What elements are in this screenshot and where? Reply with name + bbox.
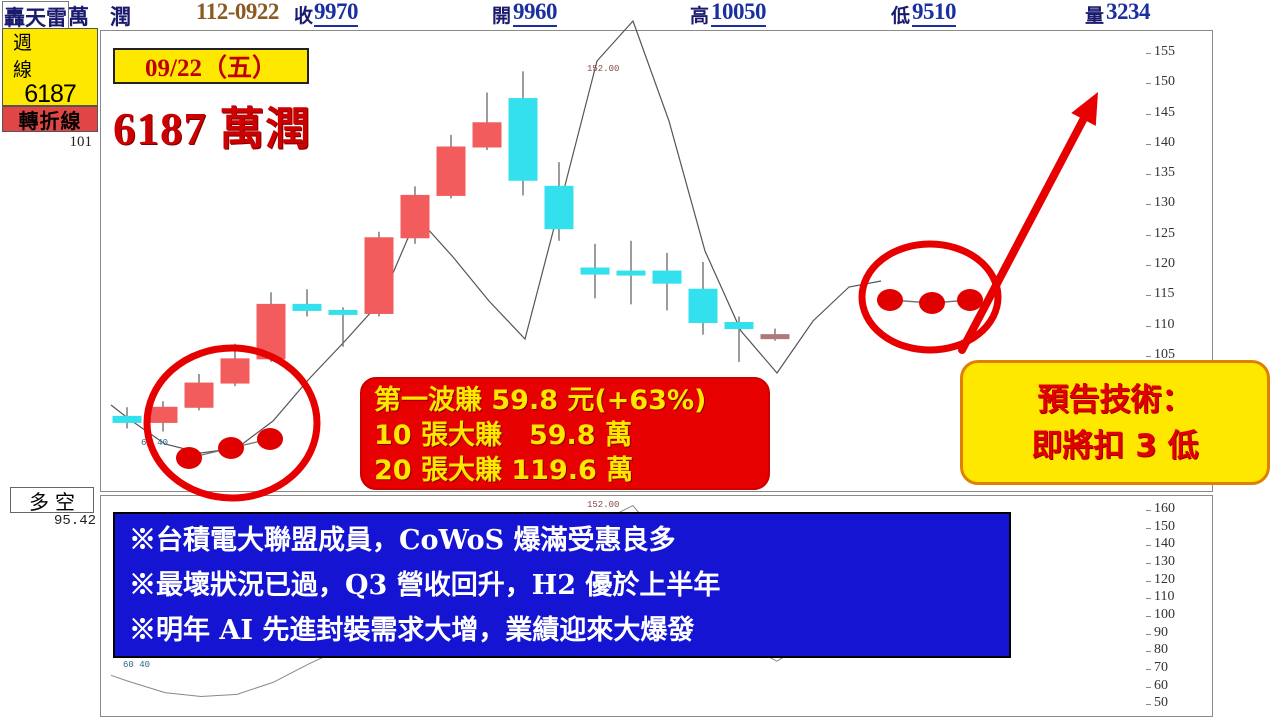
axis-tick-mark — [1146, 326, 1151, 327]
candle-0 — [113, 416, 141, 422]
candle-4 — [257, 304, 285, 358]
open-value: 9960 — [513, 0, 557, 27]
candle-2 — [185, 383, 213, 407]
axis-tick-label: 130 — [1154, 556, 1175, 568]
candle-8 — [401, 195, 429, 237]
profit-line-1: 第一波賺 59.8 元(+63%) — [374, 383, 768, 418]
candle-7 — [365, 238, 393, 314]
axis-tick-label: 110 — [1154, 591, 1174, 603]
ma-period-label: 60 40 — [141, 438, 168, 448]
axis-tick-mark — [1146, 356, 1151, 357]
axis-tick-mark — [1146, 669, 1151, 670]
candle-13 — [581, 268, 609, 274]
axis-tick-mark — [1146, 53, 1151, 54]
candle-12 — [545, 186, 573, 228]
close-label: 收 — [294, 1, 313, 28]
page-title-code: 6187 — [113, 104, 207, 154]
axis-tick-mark — [1146, 634, 1151, 635]
axis-tick-label: 140 — [1154, 137, 1175, 149]
secondary-axis-right: 1601501401301201101009080706050 — [1146, 496, 1212, 716]
candle-16 — [689, 289, 717, 322]
peak-price-label: 152.00 — [587, 64, 619, 74]
candle-14 — [617, 271, 645, 275]
secondary-peak-label: 152.00 — [587, 500, 619, 510]
candle-10 — [473, 123, 501, 147]
axis-tick-mark — [1146, 704, 1151, 705]
secondary-ma-label: 60 40 — [123, 660, 150, 670]
news-line-3: ※明年 AI 先進封裝需求大增，業績迎來大爆發 — [129, 608, 1009, 653]
low-label: 低 — [891, 1, 910, 28]
date-badge: 09/22（五） — [113, 48, 309, 84]
axis-tick-label: 135 — [1154, 167, 1175, 179]
axis-tick-mark — [1146, 83, 1151, 84]
axis-tick-label: 145 — [1154, 107, 1175, 119]
axis-tick-label: 70 — [1154, 662, 1168, 674]
axis-tick-label: 125 — [1154, 228, 1175, 240]
axis-tick-mark — [1146, 235, 1151, 236]
stock-chart-app: 轟天雷 萬 潤 112-0922 收 9970 開 9960 高 10050 低… — [0, 0, 1280, 720]
volume-value: 3234 — [1106, 0, 1150, 25]
candle-15 — [653, 271, 681, 283]
axis-tick-label: 110 — [1154, 319, 1174, 331]
quote-header: 轟天雷 萬 潤 112-0922 收 9970 開 9960 高 10050 低… — [0, 0, 1280, 28]
news-line-1: ※台積電大聯盟成員，CoWoS 爆滿受惠良多 — [129, 518, 1009, 563]
quote-date: 112-0922 — [196, 0, 279, 25]
axis-tick-label: 140 — [1154, 538, 1175, 550]
axis-tick-label: 115 — [1154, 288, 1174, 300]
sidebar-period-label: 週 線 — [3, 28, 97, 82]
axis-tick-label: 150 — [1154, 521, 1175, 533]
axis-tick-label: 90 — [1154, 627, 1168, 639]
axis-tick-label: 120 — [1154, 258, 1175, 270]
axis-tick-mark — [1146, 265, 1151, 266]
page-title: 6187 萬潤 — [113, 92, 311, 157]
profit-callout-box: 第一波賺 59.8 元(+63%) 10 張大賺 59.8 萬 20 張大賺 1… — [360, 377, 770, 490]
profit-line-3: 20 張大賺 119.6 萬 — [374, 453, 768, 488]
candle-1 — [149, 407, 177, 422]
axis-tick-mark — [1146, 545, 1151, 546]
axis-tick-mark — [1146, 528, 1151, 529]
axis-tick-mark — [1146, 114, 1151, 115]
high-value: 10050 — [711, 0, 766, 27]
sidebar-indicator-label[interactable]: 轉折線 — [2, 106, 98, 132]
stock-name-label: 萬 潤 — [68, 1, 131, 31]
axis-tick-mark — [1146, 651, 1151, 652]
open-label: 開 — [492, 1, 511, 28]
profit-line-2: 10 張大賺 59.8 萬 — [374, 418, 768, 453]
news-line-2: ※最壞狀況已過，Q3 營收回升，H2 優於上半年 — [129, 563, 1009, 608]
sidebar-duokong-label[interactable]: 多空 — [10, 487, 94, 513]
axis-tick-mark — [1146, 616, 1151, 617]
sidebar-stock-code: 6187 — [24, 82, 76, 107]
high-label: 高 — [690, 1, 709, 28]
candle-9 — [437, 147, 465, 195]
axis-tick-label: 100 — [1154, 609, 1175, 621]
candle-17 — [725, 323, 753, 329]
axis-tick-label: 80 — [1154, 644, 1168, 656]
forecast-line-2: 即將扣 3 低 — [1031, 423, 1198, 469]
axis-tick-label: 60 — [1154, 680, 1168, 692]
axis-tick-mark — [1146, 144, 1151, 145]
low-value: 9510 — [912, 0, 956, 27]
axis-tick-mark — [1146, 598, 1151, 599]
axis-tick-label: 160 — [1154, 503, 1175, 515]
axis-tick-mark — [1146, 174, 1151, 175]
candle-18 — [761, 335, 789, 339]
axis-tick-mark — [1146, 581, 1151, 582]
candle-6 — [329, 310, 357, 314]
axis-tick-label: 50 — [1154, 697, 1168, 709]
page-title-name: 萬潤 — [219, 102, 311, 155]
axis-tick-mark — [1146, 204, 1151, 205]
candle-5 — [293, 304, 321, 310]
sidebar-indicator-value: 101 — [2, 134, 98, 152]
axis-tick-mark — [1146, 295, 1151, 296]
candle-3 — [221, 359, 249, 383]
axis-tick-label: 155 — [1154, 46, 1175, 58]
close-value: 9970 — [314, 0, 358, 27]
sidebar-summary-panel[interactable]: 週 線 6187 8.3億 — [2, 28, 98, 106]
axis-tick-label: 120 — [1154, 574, 1175, 586]
sidebar-duokong-value: 95.42 — [10, 513, 100, 529]
forecast-callout-box: 預告技術： 即將扣 3 低 — [960, 360, 1270, 485]
forecast-line-1: 預告技術： — [1038, 377, 1193, 423]
news-callout-box: ※台積電大聯盟成員，CoWoS 爆滿受惠良多 ※最壞狀況已過，Q3 營收回升，H… — [113, 512, 1011, 658]
axis-tick-label: 130 — [1154, 197, 1175, 209]
axis-tick-mark — [1146, 510, 1151, 511]
candle-11 — [509, 99, 537, 181]
axis-tick-mark — [1146, 563, 1151, 564]
axis-tick-mark — [1146, 687, 1151, 688]
volume-label: 量 — [1085, 1, 1104, 28]
axis-tick-label: 150 — [1154, 76, 1175, 88]
axis-tick-label: 105 — [1154, 349, 1175, 361]
